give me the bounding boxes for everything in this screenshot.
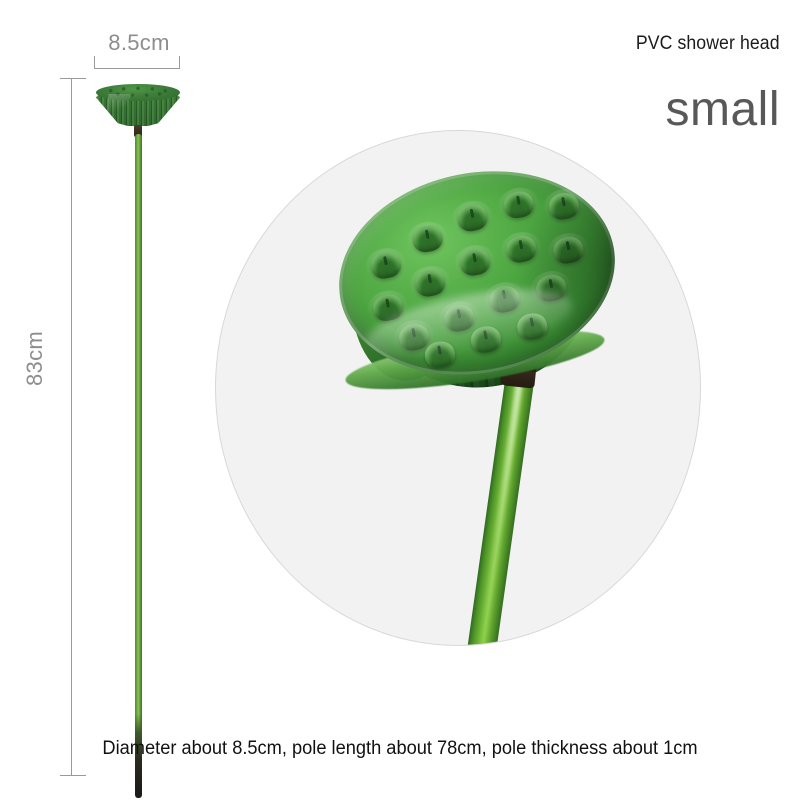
closeup-photo-content xyxy=(216,131,700,645)
width-dimension-tick-right xyxy=(179,56,180,69)
height-dimension-label: 83cm xyxy=(22,331,48,386)
scale-stem-shading xyxy=(135,134,142,794)
page-title: PVC shower head xyxy=(636,33,780,55)
height-dimension-tick-top xyxy=(60,78,86,79)
scale-pod-head xyxy=(96,84,180,128)
width-dimension-label: 8.5cm xyxy=(94,30,184,56)
closeup-photo-circle xyxy=(215,130,701,646)
height-dimension-line xyxy=(71,78,72,776)
spec-caption: Diameter about 8.5cm, pole length about … xyxy=(102,738,697,760)
scale-drawing-lotus-pod xyxy=(84,78,194,778)
height-dimension-tick-bottom xyxy=(60,775,86,776)
width-dimension-line xyxy=(94,68,180,69)
product-spec-canvas: PVC shower head small 8.5cm 83cm xyxy=(0,0,800,800)
scale-stem xyxy=(135,134,142,794)
width-dimension-tick-left xyxy=(94,56,95,69)
closeup-pod-seed-face xyxy=(321,148,632,397)
size-label: small xyxy=(665,86,780,134)
